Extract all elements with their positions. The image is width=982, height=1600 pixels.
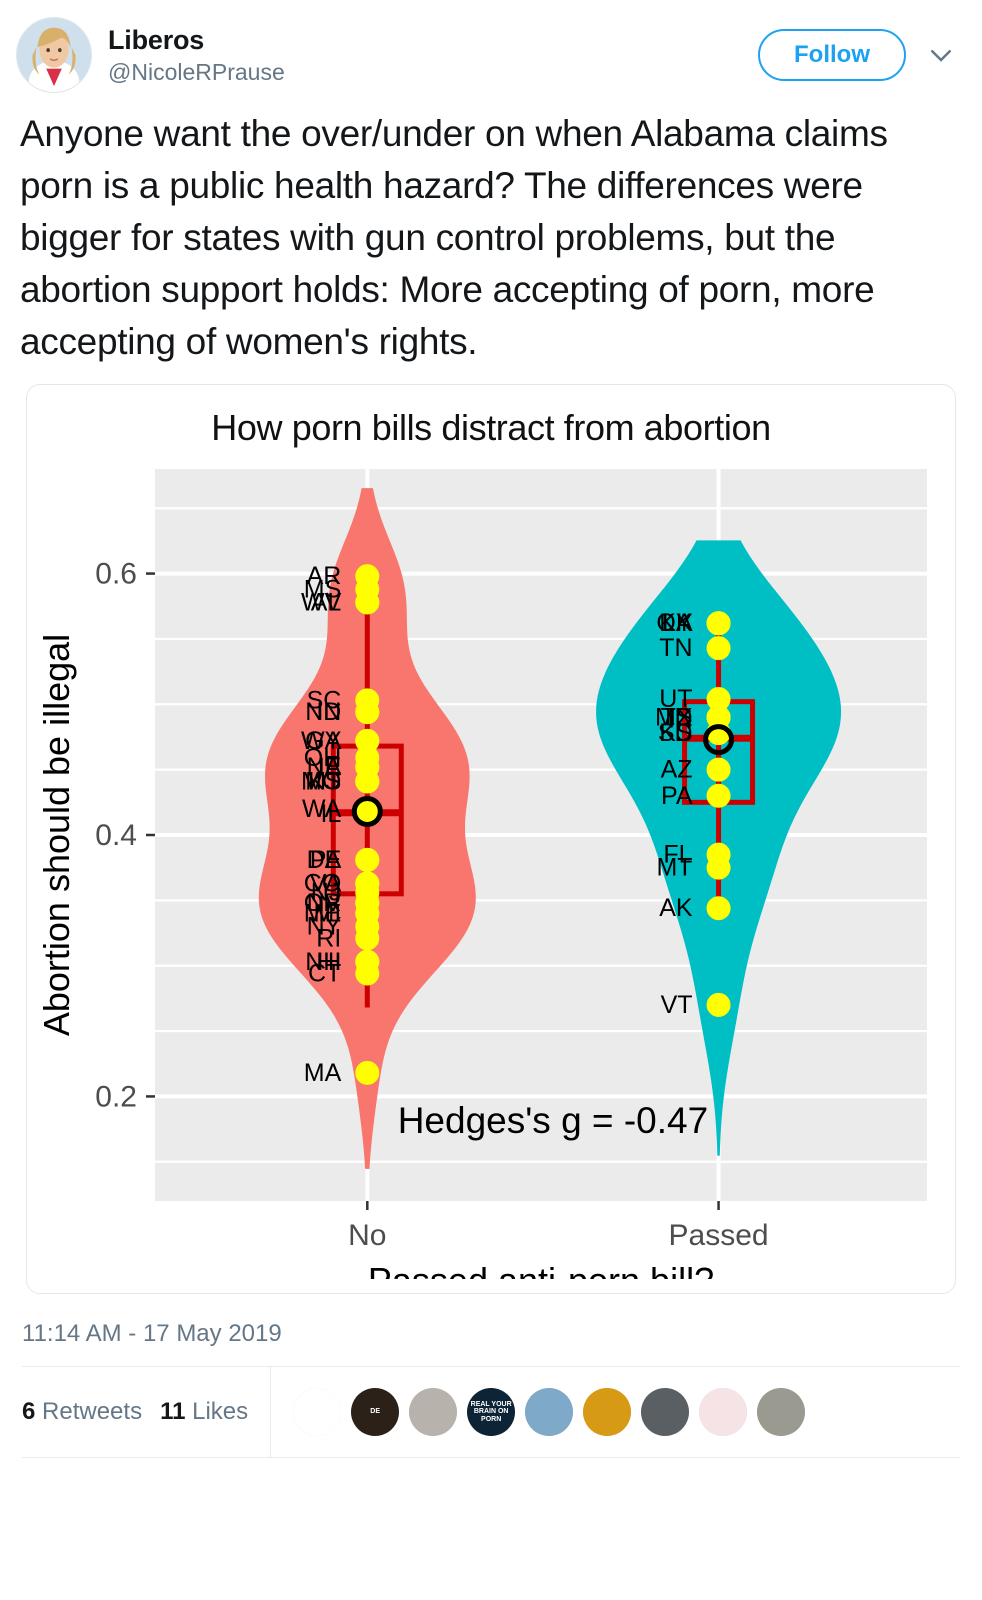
data-point-ri: [356, 927, 379, 950]
state-label-ma: MA: [304, 1059, 342, 1087]
engagement-counts: 6 Retweets 11 Likes: [22, 1367, 271, 1457]
avatar-image: [583, 1388, 631, 1436]
state-label-in: IN: [316, 698, 341, 726]
chart-card[interactable]: How porn bills distract from abortion AR…: [26, 384, 956, 1294]
retweets-count: 6: [22, 1398, 35, 1425]
avatar-label: DE: [351, 1388, 399, 1436]
author-info: Liberos @NicoleRPrause: [108, 24, 758, 87]
avatar-image: [699, 1388, 747, 1436]
avatar-image: [525, 1388, 573, 1436]
data-point-mt: [707, 856, 730, 879]
handle: @NicoleRPrause: [108, 59, 758, 87]
state-label-ak: AK: [659, 894, 693, 922]
avatar-image: [17, 18, 91, 92]
data-point-al: [356, 591, 379, 614]
liker-avatar-dark[interactable]: DE: [351, 1388, 399, 1436]
chevron-down-icon[interactable]: [924, 38, 958, 72]
liker-avatar-flowers[interactable]: [525, 1388, 573, 1436]
y-tick-label-0.2: 0.2: [95, 1080, 137, 1113]
violin-plot-svg: ARMSWVALSCNDINWYGAOHNEIAMOMTKSWAILDEPACO…: [27, 449, 955, 1279]
likes-count: 11: [160, 1398, 185, 1425]
state-label-az: AZ: [661, 756, 693, 784]
avatar-image: [641, 1388, 689, 1436]
state-label-al: AL: [311, 588, 342, 616]
data-point-ak: [707, 897, 730, 920]
tweet-page: Liberos @NicoleRPrause Follow Anyone wan…: [0, 0, 982, 1600]
data-point-ks: [356, 770, 379, 793]
tweet-timestamp: 11:14 AM - 17 May 2019: [0, 1294, 982, 1366]
avatar-image: [293, 1388, 341, 1436]
follow-button[interactable]: Follow: [758, 29, 906, 81]
data-point-pa: [356, 848, 379, 871]
avatar-label: REAL YOUR BRAIN ON PORN: [467, 1388, 515, 1436]
liker-avatar-man[interactable]: [641, 1388, 689, 1436]
tweet-text: Anyone want the over/under on when Alaba…: [0, 104, 982, 378]
retweets-stat[interactable]: 6 Retweets: [22, 1398, 142, 1426]
data-point-in: [356, 701, 379, 724]
state-label-ks: KS: [308, 767, 341, 795]
state-label-ok: OK: [656, 609, 692, 637]
avatar-image: [409, 1388, 457, 1436]
hedges-g-annotation: Hedges's g = -0.47: [398, 1100, 708, 1141]
likes-label: Likes: [192, 1398, 248, 1425]
retweets-label: Retweets: [42, 1398, 142, 1425]
state-label-il: IL: [320, 800, 341, 828]
data-point-tn: [707, 637, 730, 660]
liker-avatar-gold[interactable]: [583, 1388, 631, 1436]
data-point-az: [707, 758, 730, 781]
liker-avatar-grey[interactable]: [409, 1388, 457, 1436]
x-tick-label-passed: Passed: [669, 1219, 769, 1252]
display-name: Liberos: [108, 24, 758, 56]
avatar-image: [757, 1388, 805, 1436]
liker-avatar-ybop[interactable]: REAL YOUR BRAIN ON PORN: [467, 1388, 515, 1436]
data-point-ok: [707, 612, 730, 635]
chevron-down-glyph: [926, 40, 956, 70]
tweet-header: Liberos @NicoleRPrause Follow: [0, 0, 982, 104]
avatar[interactable]: [16, 17, 92, 93]
liker-avatar-pink[interactable]: [699, 1388, 747, 1436]
x-axis-title: Passed anti-porn bill?: [368, 1260, 714, 1279]
liker-avatar-tree[interactable]: [293, 1388, 341, 1436]
tweet-stats-row: 6 Retweets 11 Likes DEREAL YOUR BRAIN ON…: [22, 1366, 960, 1458]
y-tick-label-0.6: 0.6: [95, 558, 137, 591]
state-label-tn: TN: [659, 634, 692, 662]
chart-title: How porn bills distract from abortion: [27, 385, 955, 449]
data-point-ct: [356, 962, 379, 985]
data-point-ma: [356, 1061, 379, 1084]
state-label-mt: MT: [656, 854, 692, 882]
state-label-ct: CT: [308, 960, 341, 988]
state-label-pa: PA: [661, 782, 693, 810]
state-label-vt: VT: [661, 991, 693, 1019]
likes-stat[interactable]: 11 Likes: [160, 1398, 248, 1426]
state-label-sd: SD: [658, 719, 693, 747]
liker-avatar-woman[interactable]: [757, 1388, 805, 1436]
y-axis-title: Abortion should be illegal: [36, 634, 77, 1036]
data-point-pa: [707, 784, 730, 807]
x-tick-label-no: No: [348, 1219, 386, 1252]
liker-facepile: DEREAL YOUR BRAIN ON PORN: [271, 1388, 805, 1436]
data-point-vt: [707, 993, 730, 1016]
y-tick-label-0.4: 0.4: [95, 819, 137, 852]
violin-plot: ARMSWVALSCNDINWYGAOHNEIAMOMTKSWAILDEPACO…: [27, 449, 955, 1279]
